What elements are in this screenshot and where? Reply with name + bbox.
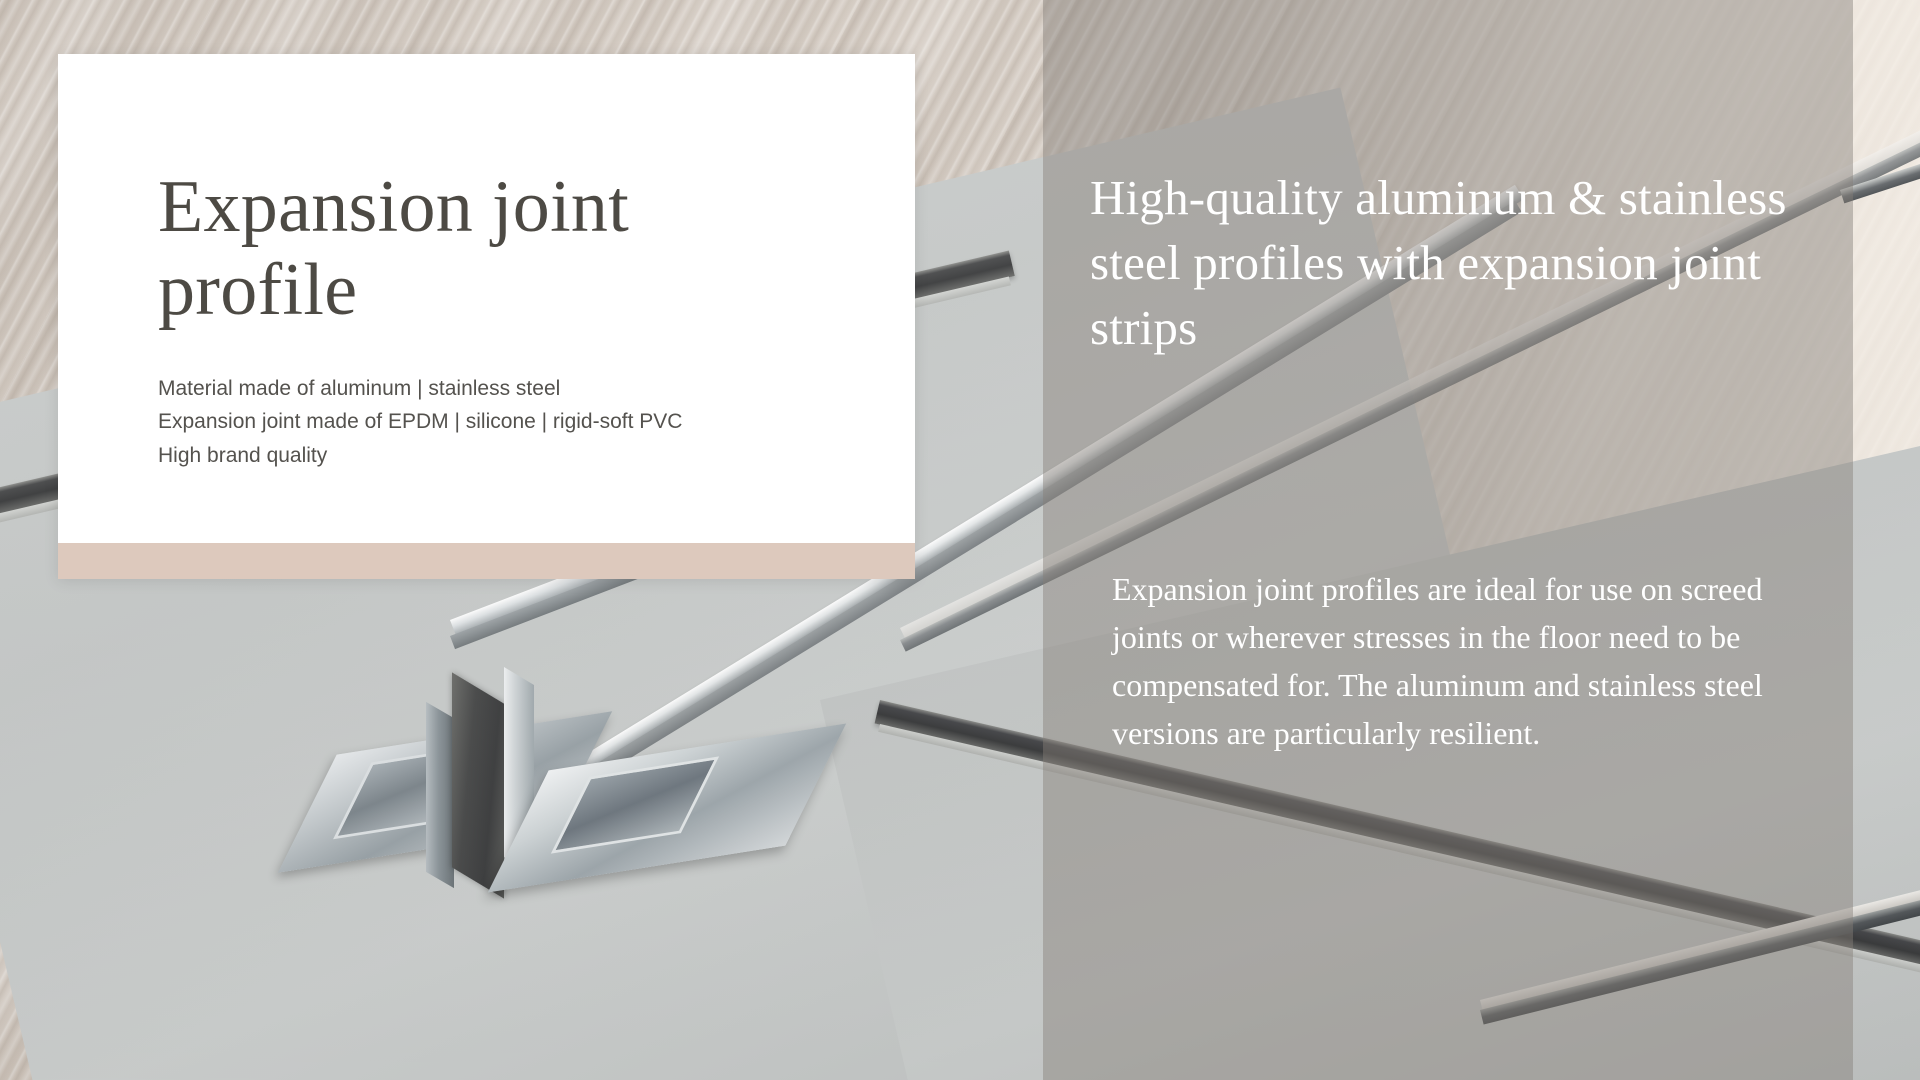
expansion-joint-profile [300, 560, 920, 920]
overlay-heading: High-quality aluminum & stainless steel … [1090, 165, 1830, 360]
card-accent-bar [58, 543, 915, 579]
profile-left-web [426, 702, 454, 888]
overlay-body-text: Expansion joint profiles are ideal for u… [1112, 565, 1792, 757]
card-subtitle-line-1: Material made of aluminum | stainless st… [158, 372, 818, 406]
slide-canvas: High-quality aluminum & stainless steel … [0, 0, 1920, 1080]
page-title: Expansion joint profile [158, 166, 818, 332]
profile-epdm-core [452, 672, 504, 898]
info-card: Expansion joint profile Material made of… [58, 54, 915, 579]
overlay-panel [1043, 0, 1853, 1080]
card-subtitle-line-2: Expansion joint made of EPDM | silicone … [158, 405, 818, 439]
info-card-content: Expansion joint profile Material made of… [158, 166, 818, 473]
card-subtitle-line-3: High brand quality [158, 439, 818, 473]
card-subtitle-list: Material made of aluminum | stainless st… [158, 372, 818, 473]
